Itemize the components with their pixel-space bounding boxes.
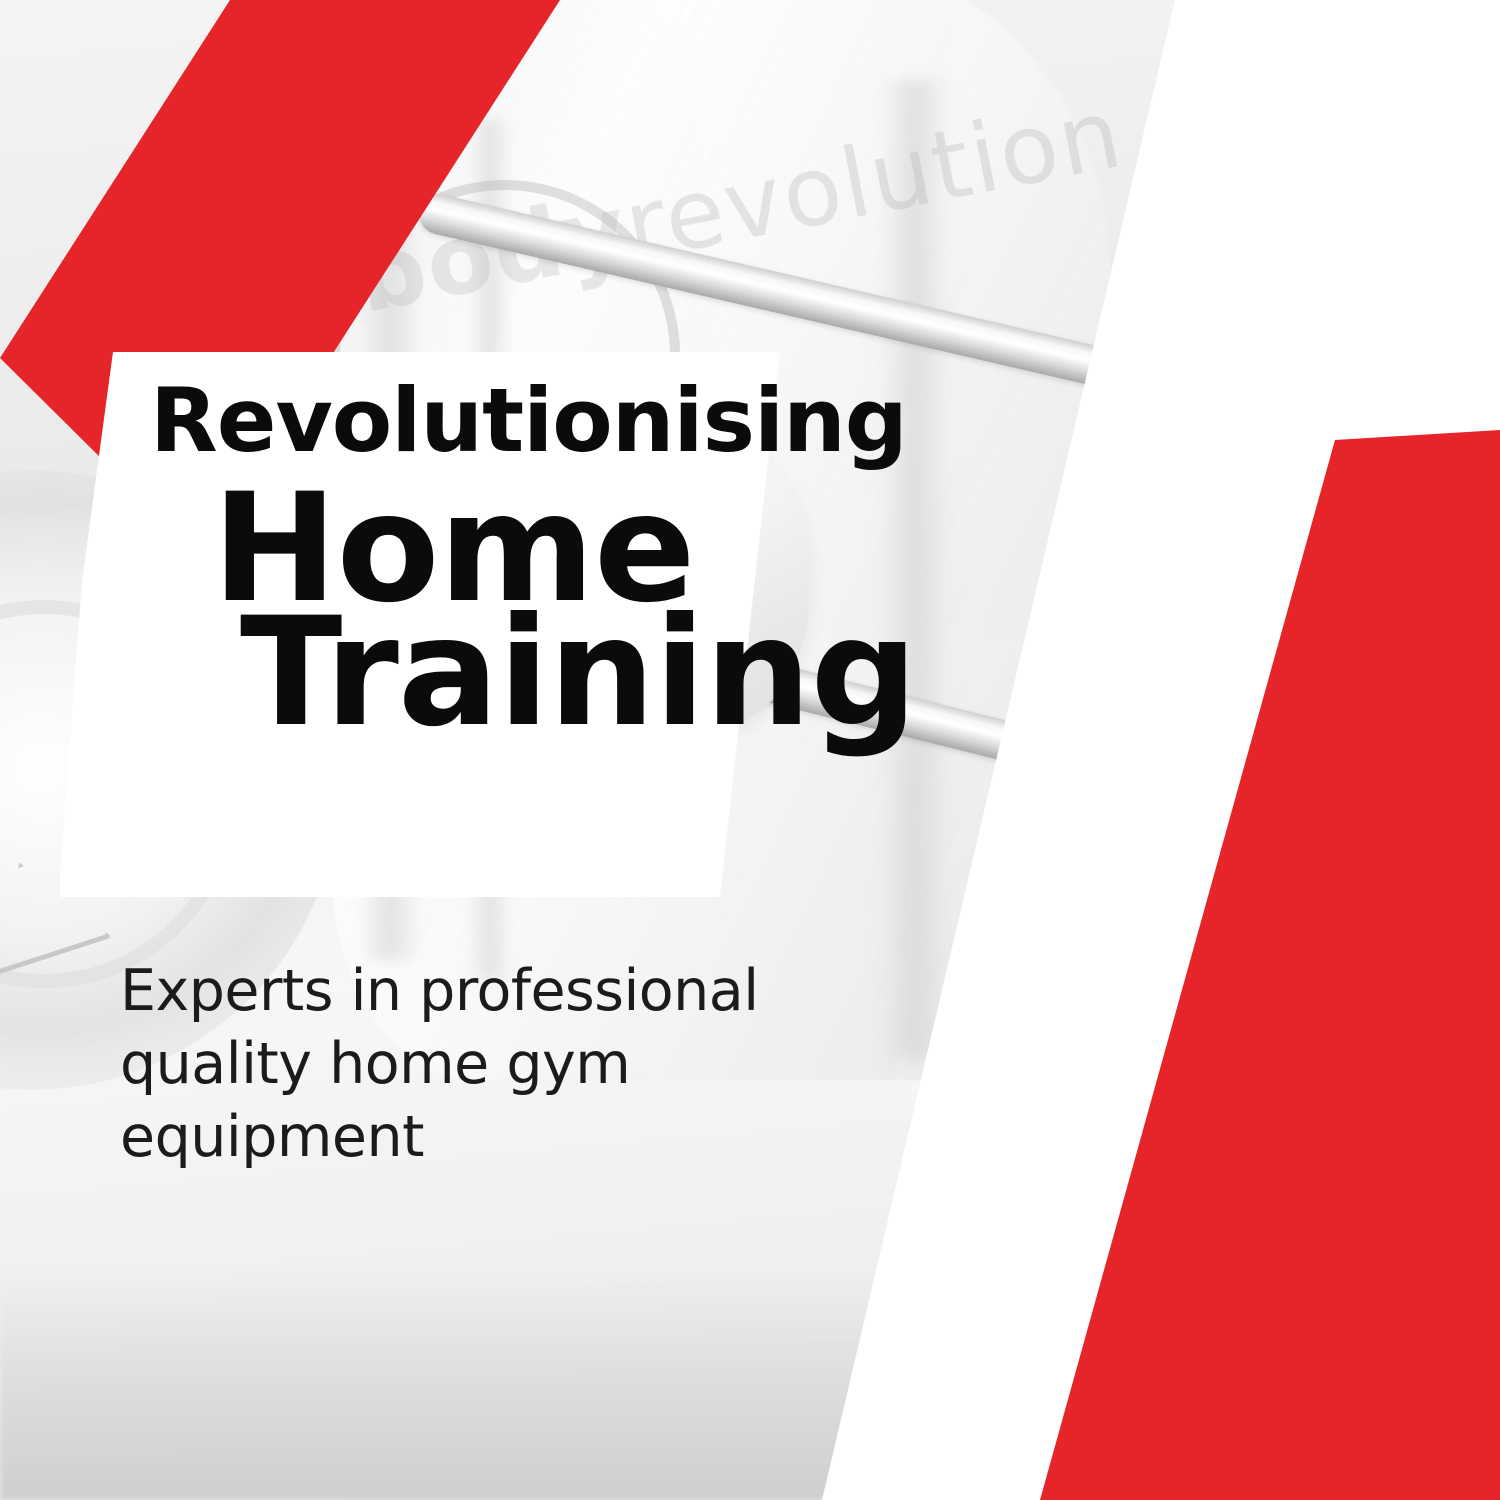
subtitle: Experts in professional quality home gym… [120,955,840,1174]
feature-list: Established UK company for 20 years Prof… [760,0,1500,1500]
promo-banner: bodyrevolution Revolutionising Home Trai… [0,0,1500,1500]
